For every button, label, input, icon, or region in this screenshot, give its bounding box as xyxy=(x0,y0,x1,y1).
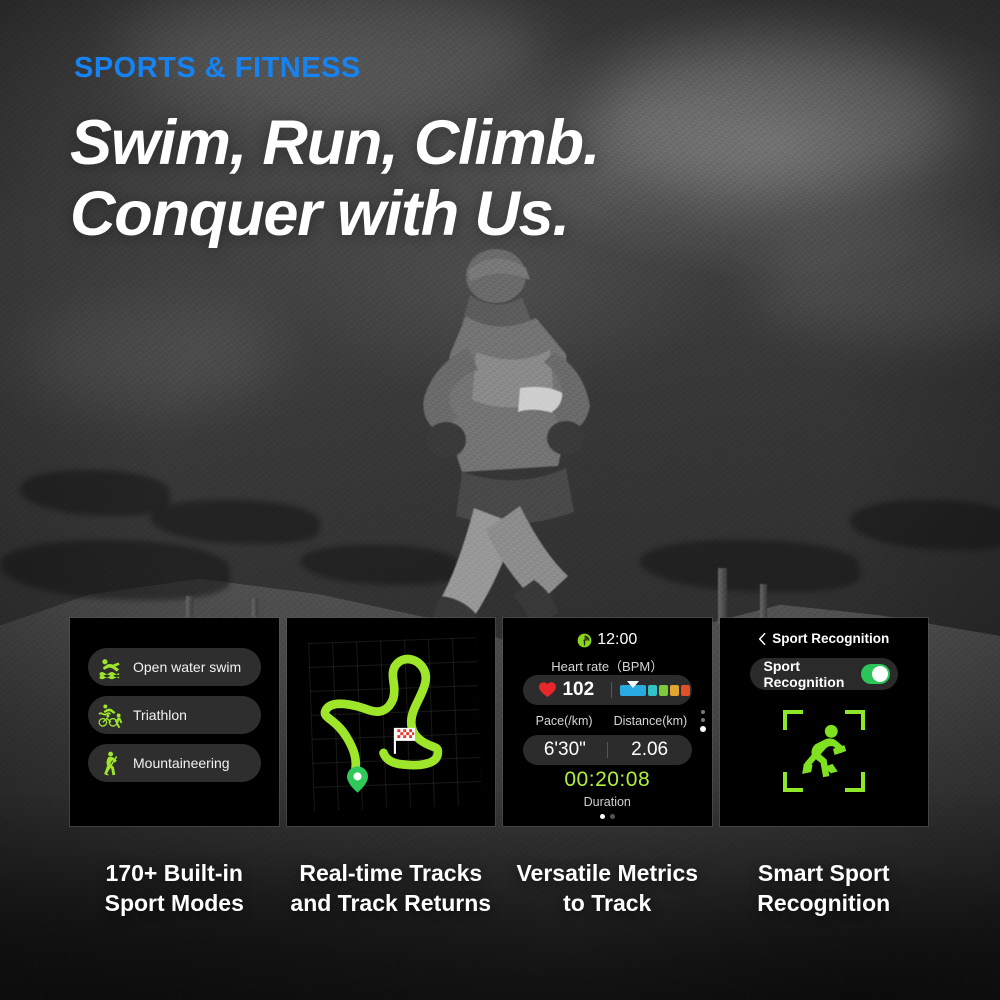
card-real-time-track[interactable] xyxy=(287,618,496,826)
toggle-knob xyxy=(872,666,888,682)
toggle-label: Sport Recognition xyxy=(764,658,862,690)
scroll-dot-active xyxy=(700,726,706,732)
page-dot xyxy=(610,814,615,819)
caption-smart-sport-recognition: Smart Sport Recognition xyxy=(720,858,929,919)
scroll-dot xyxy=(701,710,705,714)
list-item[interactable]: Mountaineering xyxy=(88,744,261,782)
caption-line-1: Smart Sport xyxy=(720,858,929,888)
list-item[interactable]: Open water swim xyxy=(88,648,261,686)
zone-segment-5 xyxy=(681,685,690,696)
pace-distance-pill[interactable]: 6'30" 2.06 xyxy=(523,735,692,765)
sport-mode-list: Open water swim xyxy=(88,648,261,782)
triathlon-icon xyxy=(98,702,124,728)
running-person-icon xyxy=(797,724,851,778)
zone-segment-4 xyxy=(670,685,679,696)
metric-labels-row: Pace(/km) Distance(km) xyxy=(521,714,694,728)
list-item-label: Open water swim xyxy=(133,659,241,675)
page-indicator[interactable] xyxy=(503,814,712,819)
heart-rate-value: 102 xyxy=(562,679,594,701)
page-dot-active xyxy=(600,814,605,819)
list-item-label: Mountaineering xyxy=(133,755,230,771)
card-smart-sport-recognition[interactable]: Sport Recognition Sport Recognition xyxy=(720,618,929,826)
caption-versatile-metrics: Versatile Metrics to Track xyxy=(503,858,712,919)
distance-value: 2.06 xyxy=(608,739,692,761)
heart-rate-label: Heart rate（BPM） xyxy=(503,656,712,675)
pace-value: 6'30" xyxy=(523,739,607,761)
caption-line-1: Real-time Tracks xyxy=(287,858,496,888)
heart-rate-pill[interactable]: 102 xyxy=(523,675,692,705)
card-versatile-metrics[interactable]: 12:00 Heart rate（BPM） 102 xyxy=(503,618,712,826)
zone-marker-icon xyxy=(627,681,639,688)
caption-real-time-track: Real-time Tracks and Track Returns xyxy=(287,858,496,919)
caption-line-2: Recognition xyxy=(720,888,929,918)
open-water-swim-icon xyxy=(98,654,124,680)
mountaineering-icon xyxy=(98,750,124,776)
distance-label: Distance(km) xyxy=(607,714,693,728)
gps-map xyxy=(287,618,496,826)
pace-label: Pace(/km) xyxy=(521,714,607,728)
caption-line-2: Sport Modes xyxy=(70,888,279,918)
headline-line-2: Conquer with Us. xyxy=(70,179,850,250)
page-title: Swim, Run, Climb. Conquer with Us. xyxy=(70,108,850,249)
scroll-indicator[interactable] xyxy=(700,710,706,732)
caption-line-2: and Track Returns xyxy=(287,888,496,918)
screen-header: Sport Recognition xyxy=(720,631,929,646)
caption-line-2: to Track xyxy=(503,888,712,918)
zone-segment-3 xyxy=(659,685,668,696)
sport-recognition-toggle[interactable] xyxy=(861,664,890,684)
duration-value: 00:20:08 xyxy=(503,768,712,792)
route-path xyxy=(287,618,496,826)
card-sport-modes[interactable]: Open water swim xyxy=(70,618,279,826)
promo-banner: SPORTS & FITNESS Swim, Run, Climb. Conqu… xyxy=(0,0,1000,1000)
headline-line-1: Swim, Run, Climb. xyxy=(70,108,850,179)
heart-icon xyxy=(539,682,556,698)
card-captions: 170+ Built-in Sport Modes Real-time Trac… xyxy=(70,858,928,919)
eyebrow-label: SPORTS & FITNESS xyxy=(74,52,361,85)
gps-signal-icon xyxy=(577,633,592,648)
checkered-flag-icon xyxy=(393,726,419,754)
feature-cards: Open water swim xyxy=(70,618,928,826)
scan-frame xyxy=(783,710,865,792)
caption-line-1: 170+ Built-in xyxy=(70,858,279,888)
screen-title: Sport Recognition xyxy=(772,631,889,646)
scroll-dot xyxy=(701,718,705,722)
status-row: 12:00 xyxy=(503,631,712,649)
chevron-left-icon[interactable] xyxy=(758,633,766,645)
duration-label: Duration xyxy=(503,795,712,809)
location-pin-icon xyxy=(347,766,368,793)
zone-segment-1 xyxy=(620,685,646,696)
current-time: 12:00 xyxy=(597,631,637,649)
heart-rate-zone-bar xyxy=(612,685,692,696)
caption-line-1: Versatile Metrics xyxy=(503,858,712,888)
caption-sport-modes: 170+ Built-in Sport Modes xyxy=(70,858,279,919)
zone-segment-2 xyxy=(648,685,657,696)
heart-rate-value-group: 102 xyxy=(523,679,611,701)
sport-recognition-setting-row[interactable]: Sport Recognition xyxy=(750,658,899,690)
list-item[interactable]: Triathlon xyxy=(88,696,261,734)
list-item-label: Triathlon xyxy=(133,707,187,723)
